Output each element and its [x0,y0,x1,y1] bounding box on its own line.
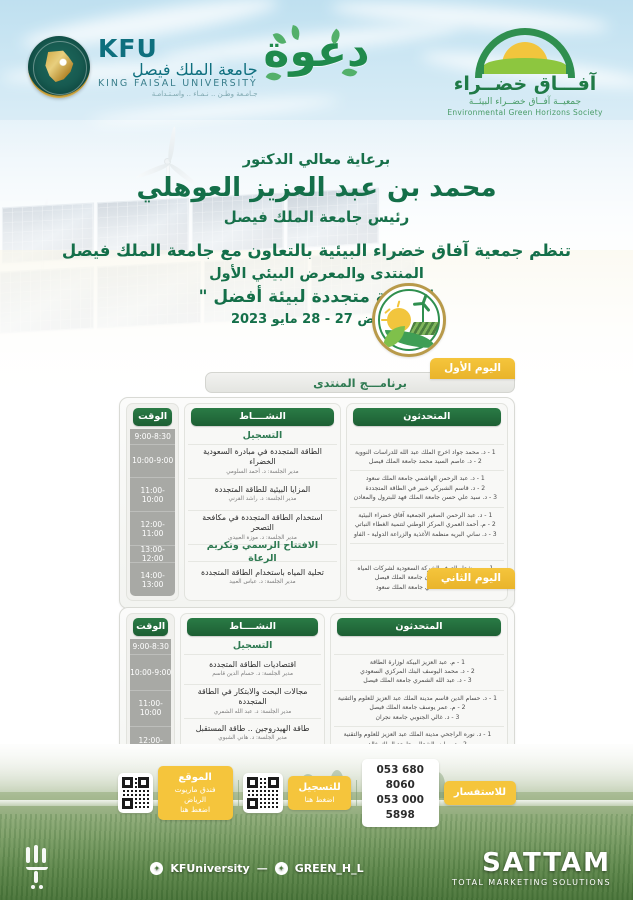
table-row [350,544,504,561]
session-moderator: مدير الجلسة: د. هاني الشبوي [188,735,317,742]
table-row: التسجيل [188,429,336,445]
table-row: اقتصاديات الطاقة المتجددة مدير الجلسة: د… [184,655,321,685]
table-row: 1 - م. عبد العزيز البيكة لوزارة الطاقة 2… [334,655,504,691]
speakers-column-header: المتحدثون [353,408,501,426]
table-row: 1 - د. عبد الرحمن الصغير الجمعية آفاق خض… [350,508,504,544]
patron-name: محمد بن عبد العزيز العوهلي [0,172,633,205]
green-horizons-arc-sun-icon [475,28,575,70]
list-item: 2 - د. محمد اليوسف البنك المركزي السعودي [338,667,497,676]
twitter-bird-icon: ✦ [150,862,163,875]
table-row [334,639,504,655]
session-moderator: مدير الجلسة: د. أحمد السلومي [192,469,332,476]
registration-group[interactable]: للتسجيل اضغط هنا [243,773,350,813]
list-item: 2 - م. عمر يوسف جامعة الملك فيصل [338,703,497,712]
contact-cta-strip: للاستفسار 053 680 8060 053 000 5898 للتس… [118,772,516,814]
list-item: 2 - د. عاصم السيد محمد جامعة الملك فيصل [354,457,497,466]
list-item: 1 - د. عبد الرحمن الصغير الجمعية آفاق خض… [354,511,497,520]
table-row: مجالات البحث والابتكار في الطاقة المتجدد… [184,685,321,719]
list-item: 1 - م. عبد العزيز البيكة لوزارة الطاقة [338,658,497,667]
event-name: المنتدى والمعرض البيئي الأول [0,266,633,282]
inquiry-label: للاستفسار [444,781,516,805]
list-item: 1 - د. حسام الدين قاسم مدينة الملك عبد ا… [338,694,497,703]
twitter-bird-icon: ✦ [275,862,288,875]
inquiry-group: للاستفسار 053 680 8060 053 000 5898 [362,759,516,828]
table-row: المزايا البيئية للطاقة المتجددة مدير الج… [188,479,336,511]
register-button[interactable]: للتسجيل اضغط هنا [288,776,350,810]
session-title: المزايا البيئية للطاقة المتجددة [192,485,332,496]
session-moderator: مدير الجلسة: د. عبد الله الشمري [188,709,317,716]
time-cell: 9:00-8:30 [130,429,175,445]
agency-tagline: TOTAL MARKETING SOLUTIONS [452,878,611,887]
time-column-header: الوقت [133,408,172,426]
session-moderator: مدير الجلسة: د. راشد القرني [192,496,332,503]
table-row [350,429,504,445]
time-cell: 11:00-10:00 [130,478,175,512]
speakers-column-header: المتحدثون [337,618,501,636]
activity-column-header: النشــــاط [191,408,333,426]
patron-role: رئيس جامعة الملك فيصل [0,208,633,226]
list-item: 2 - د. قاسم الشبركي خبير في الطاقة المتج… [354,484,497,493]
phone-number-2: 053 000 5898 [371,793,430,823]
arabic-monogram-logo-icon [22,845,62,891]
qr-code-icon[interactable] [118,773,153,813]
qr-code-icon[interactable] [243,773,283,813]
green-horizons-name-english: Environmental Green Horizons Society [445,108,605,117]
divider [238,780,239,806]
event-date-location: الرياض 27 - 28 مايو 2023 [0,312,633,327]
poster-header: KFU جامعة الملك فيصل KING FAISAL UNIVERS… [0,0,633,140]
location-button[interactable]: الموقع فندق ماريوت الرياض اضغط هنا [158,766,233,820]
table-row: 1 - د. عبد الرحمن الهاشمي جامعة الملك سع… [350,471,504,507]
kfu-name-english: KING FAISAL UNIVERSITY [98,79,258,89]
registration-label: التسجيل [192,430,332,443]
session-title: اقتصاديات الطاقة المتجددة [188,660,317,671]
session-title: مجالات البحث والابتكار في الطاقة المتجدد… [188,687,317,708]
list-item: 1 - د. محمد جواد اخرج الملك عبد الله للد… [354,448,497,457]
kfu-abbreviation: KFU [98,36,258,61]
day-1-badge: اليوم الأول [430,358,515,379]
table-row: 1 - د. حسام الدين قاسم مدينة الملك عبد ا… [334,691,504,727]
patronage-line: برعاية معالي الدكتور [0,150,633,170]
divider [356,780,357,806]
list-item: 3 - د. غالي الجنوبي جامعة نجران [338,713,497,722]
table-row: التسجيل [184,639,321,655]
agency-name: SATTAM [452,850,611,876]
social-handle-green[interactable]: GREEN_H_L [295,862,364,875]
kfu-seal-icon [28,36,90,98]
time-cell: 10:00-9:00 [130,445,175,479]
location-venue: فندق ماريوت الرياض [168,785,223,805]
poster-footer: ✦ KFUniversity — ✦ GREEN_H_L SATTAM TOTA… [0,836,633,900]
list-item: 3 - د. سيد علي حسن جامعة الملك فهد للبتر… [354,493,497,502]
activity-column-header: النشــــاط [187,618,318,636]
table-row: الافتتاح الرسمي وتكريم الرعاة [188,545,336,562]
list-item: 3 - د. ساني البريه منظمة الأغذية والزراع… [354,530,497,539]
session-title: الطاقة المتجددة في مبادرة السعودية الخضر… [192,447,332,468]
time-cell: 13:00-12:00 [130,546,175,563]
time-column-header: الوقت [133,618,168,636]
time-cell: 10:00-9:00 [130,655,171,691]
table-row: 1 - د. محمد جواد اخرج الملك عبد الله للد… [350,445,504,472]
time-cell: 11:00-10:00 [130,691,171,727]
phone-number-1: 053 680 8060 [371,763,430,793]
session-title: استخدام الطاقة المتجددة في مكافحة التصحر [192,513,332,534]
social-handle-kfu[interactable]: KFUniversity [170,862,249,875]
dawa-calligraphy: دعوة [257,30,377,74]
list-item: 2 - م. أحمد العمري المركز الوطني لتنمية … [354,520,497,529]
green-horizons-subtitle-arabic: جمعيــة آفــاق خضــراء البيئــة [445,97,605,107]
list-item: 1 - د. نوره الراجحي مدينة الملك عبد العز… [338,730,497,739]
social-handles: ✦ KFUniversity — ✦ GREEN_H_L [150,862,363,875]
green-horizons-lockup: آفـــاق خضــراء جمعيــة آفــاق خضــراء ا… [445,28,605,117]
event-slogan: " طاقة متجددة لبيئة أفضل " [0,287,633,307]
table-row: الطاقة المتجددة في مبادرة السعودية الخضر… [188,445,336,479]
register-sublabel: اضغط هنا [298,795,340,805]
session-moderator: مدير الجلسة: د. حسام الدين قاسم [188,671,317,678]
day-2-badge: اليوم الثاني [427,568,515,589]
registration-label: التسجيل [188,640,317,653]
location-label: الموقع [178,772,212,783]
list-item: 1 - د. عبد الرحمن الهاشمي جامعة الملك سع… [354,474,497,483]
session-title: طاقة الهيدروجين .. طاقة المستقبل [188,724,317,735]
location-sublabel: اضغط هنا [168,805,223,815]
separator: — [257,862,268,875]
event-title-block: برعاية معالي الدكتور محمد بن عبد العزيز … [0,150,633,327]
kfu-tagline: جـامـعة وطـن .. نـمـاء .. واسـتـدامـة [98,91,258,98]
agency-credit: SATTAM TOTAL MARKETING SOLUTIONS [452,850,611,887]
kfu-logo-lockup: KFU جامعة الملك فيصل KING FAISAL UNIVERS… [28,36,258,98]
time-cell: 9:00-8:30 [130,639,171,655]
kfu-name-arabic: جامعة الملك فيصل [98,62,258,78]
inquiry-phone-numbers: 053 680 8060 053 000 5898 [362,759,439,828]
organizer-line: تنظم جمعية آفاق خضراء البيئية بالتعاون م… [0,240,633,262]
location-group[interactable]: الموقع فندق ماريوت الرياض اضغط هنا [118,766,233,820]
list-item: 3 - د. عبد الله الشمري جامعة الملك فيصل [338,676,497,685]
time-cell: 12:00-11:00 [130,512,175,546]
renewable-energy-circle-logo-icon [372,283,446,357]
register-label: للتسجيل [298,782,340,793]
poster-canvas: KFU جامعة الملك فيصل KING FAISAL UNIVERS… [0,0,633,900]
